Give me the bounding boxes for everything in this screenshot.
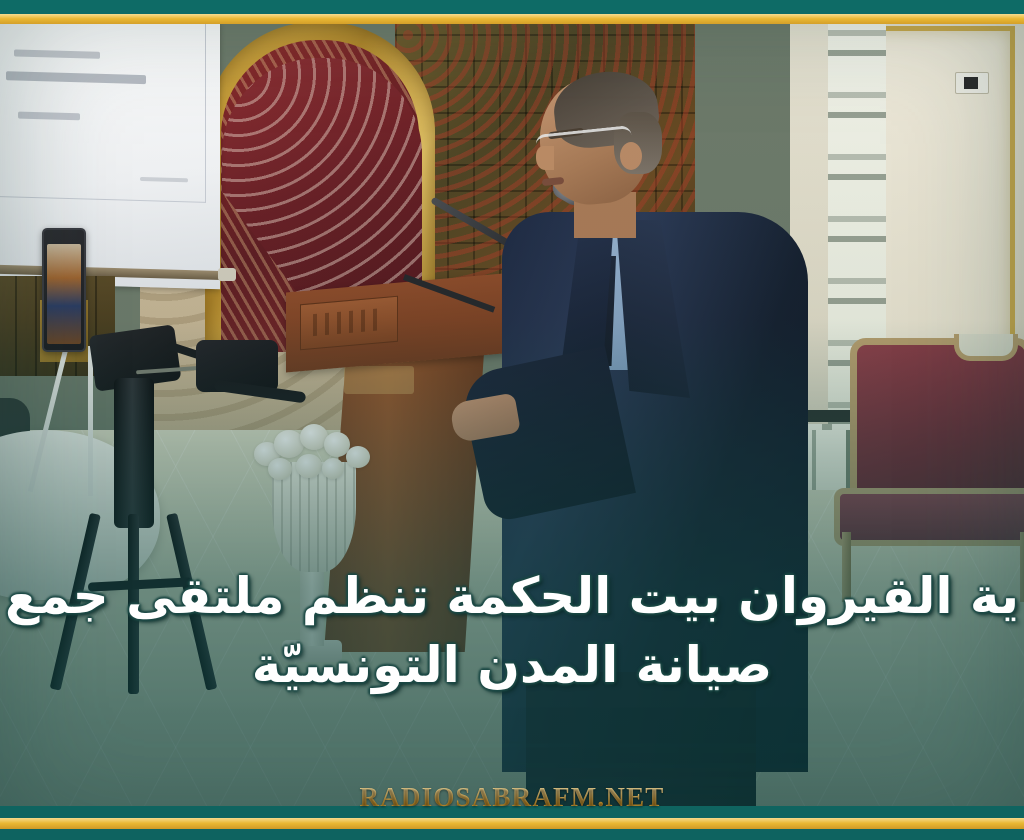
screen-rail-knob bbox=[218, 268, 236, 281]
nose bbox=[536, 146, 554, 170]
chair-backrest bbox=[850, 338, 1024, 504]
headline: ية القيروان بيت الحكمة تنظم ملتقى جمع صي… bbox=[0, 570, 1024, 692]
podium-nameplate bbox=[300, 296, 398, 351]
banquet-chair bbox=[836, 338, 1024, 598]
top-gold-border bbox=[0, 14, 1024, 24]
news-banner: ية القيروان بيت الحكمة تنظم ملتقى جمع صي… bbox=[0, 0, 1024, 840]
slide-border bbox=[0, 15, 206, 203]
bottom-teal-border-lower bbox=[0, 829, 1024, 840]
white-roses bbox=[250, 424, 380, 482]
headline-line-1: ية القيروان بيت الحكمة تنظم ملتقى جمع bbox=[0, 570, 1024, 623]
wall-light-switch bbox=[955, 72, 989, 94]
rose bbox=[322, 458, 344, 479]
headline-line-2: صيانة المدن التونسيّة bbox=[0, 639, 1024, 692]
rose bbox=[268, 458, 292, 480]
tripod-column bbox=[114, 378, 154, 528]
podium-emblem bbox=[344, 366, 414, 394]
chair-handle-notch bbox=[954, 334, 1018, 361]
smartphone-screen bbox=[47, 244, 81, 344]
event-photograph bbox=[0, 0, 1024, 840]
chair-seat bbox=[834, 488, 1024, 546]
projection-screen bbox=[0, 15, 220, 289]
rose bbox=[296, 454, 322, 478]
bottom-gold-border bbox=[0, 818, 1024, 829]
rose bbox=[346, 446, 370, 468]
site-watermark: RADIOSABRAFM.NET bbox=[0, 782, 1024, 813]
top-teal-border bbox=[0, 0, 1024, 14]
